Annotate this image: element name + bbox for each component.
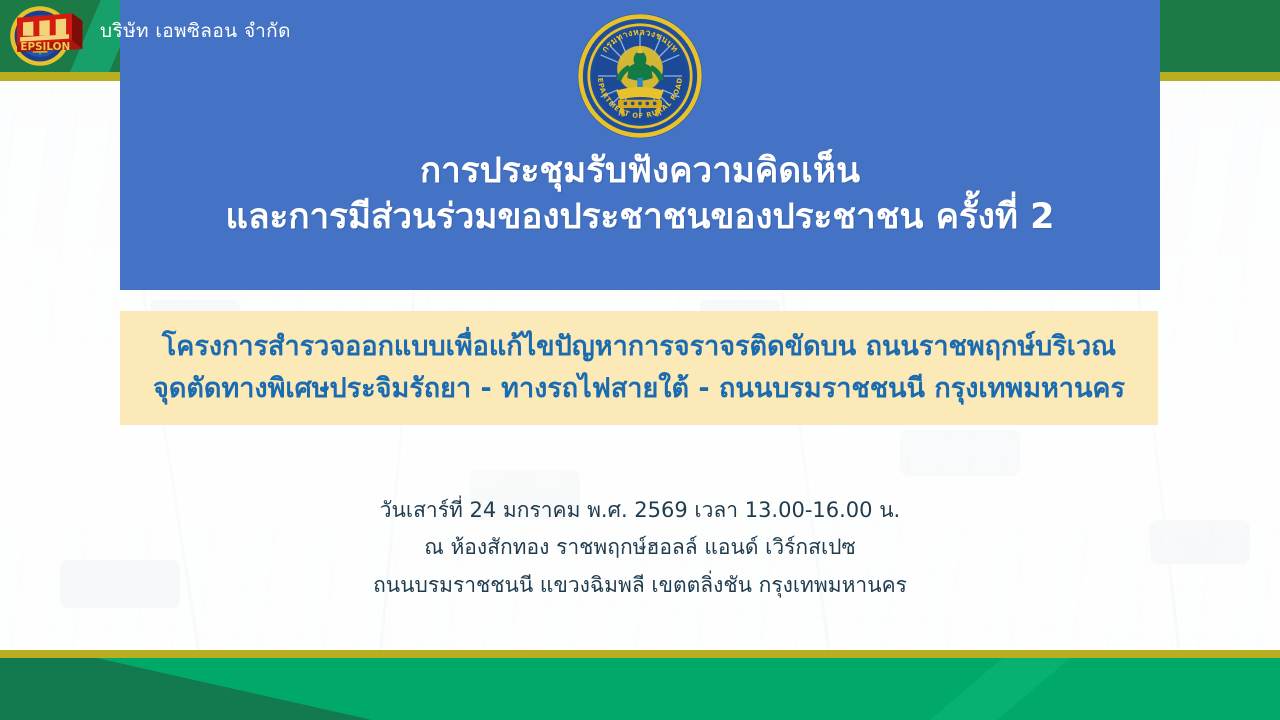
drr-emblem-icon: กรมทางหลวงชนบท DEPARTMENT OF RURAL ROADS <box>576 12 704 140</box>
event-address: ถนนบรมราชชนนี แขวงฉิมพลี เขตตลิ่งชัน กรุ… <box>0 567 1280 604</box>
title-line-2: และการมีส่วนร่วมของประชาชนของประชาชน ครั… <box>120 194 1160 240</box>
project-name-banner: โครงการสำรวจออกแบบเพื่อแก้ไขปัญหาการจราจ… <box>120 311 1158 425</box>
subtitle-line-1: โครงการสำรวจออกแบบเพื่อแก้ไขปัญหาการจราจ… <box>162 326 1116 368</box>
footer-band <box>0 658 1280 720</box>
footer-gold-rule <box>0 650 1280 658</box>
epsilon-logo-icon: EPSILON <box>8 6 90 58</box>
page-title: การประชุมรับฟังความคิดเห็น และการมีส่วนร… <box>120 148 1160 240</box>
epsilon-wordmark: EPSILON <box>20 41 70 53</box>
title-line-1: การประชุมรับฟังความคิดเห็น <box>120 148 1160 194</box>
event-venue: ณ ห้องสักทอง ราชพฤกษ์ฮอลล์ แอนด์ เวิร์กส… <box>0 529 1280 566</box>
presentation-slide: ฤกษ์บริเวณจุดตัด หานคร <box>0 0 1280 720</box>
subtitle-line-2: จุดตัดทางพิเศษประจิมรัถยา - ทางรถไฟสายใต… <box>153 368 1125 410</box>
event-datetime: วันเสาร์ที่ 24 มกราคม พ.ศ. 2569 เวลา 13.… <box>0 492 1280 529</box>
footer-diagonal-accent-dark <box>0 658 372 720</box>
footer-diagonal-accent-light <box>930 658 1070 720</box>
event-details: วันเสาร์ที่ 24 มกราคม พ.ศ. 2569 เวลา 13.… <box>0 492 1280 604</box>
footer-company-name: บริษัท เอพซิลอน จำกัด <box>100 0 291 62</box>
